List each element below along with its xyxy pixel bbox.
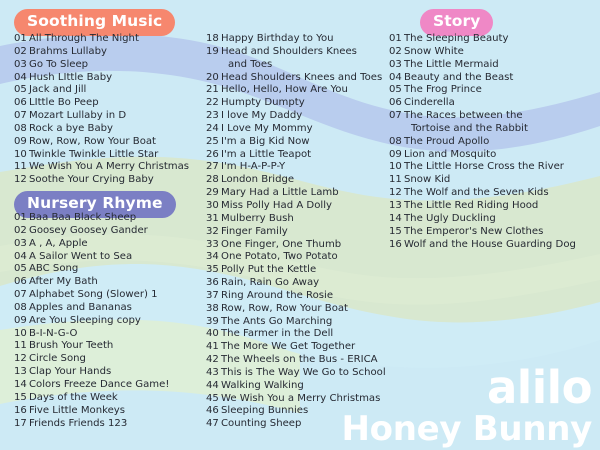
- track-title: The Little Horse Cross the River: [404, 161, 600, 174]
- track-list-item: 04A Sailor Went to Sea: [14, 251, 214, 264]
- track-title: Days of the Week: [29, 392, 214, 405]
- track-number: 38: [206, 303, 221, 316]
- track-list-item: 20Head Shoulders Knees and Toes: [206, 72, 402, 85]
- track-title: Beauty and the Beast: [404, 72, 600, 85]
- track-title: and Toes: [221, 59, 402, 72]
- track-number: 42: [206, 354, 221, 367]
- track-title: Hush LIttle Baby: [29, 72, 214, 85]
- track-number: 10: [389, 161, 404, 174]
- track-list-item: 09Are You Sleeping copy: [14, 315, 214, 328]
- track-number: 01: [14, 212, 29, 225]
- track-number: 06: [14, 276, 29, 289]
- track-number: 16: [389, 239, 404, 252]
- track-title: A Sailor Went to Sea: [29, 251, 214, 264]
- track-list-item: 34One Potato, Two Potato: [206, 251, 402, 264]
- track-title: The Ants Go Marching: [221, 316, 402, 329]
- track-list-item: 01Baa Baa Black Sheep: [14, 212, 214, 225]
- track-number: 04: [14, 251, 29, 264]
- track-number: 06: [389, 97, 404, 110]
- track-title: Rain, Rain Go Away: [221, 277, 402, 290]
- track-number: 01: [14, 33, 29, 46]
- track-number: 19: [206, 46, 221, 59]
- track-title: Brush Your Teeth: [29, 340, 214, 353]
- track-title: One Potato, Two Potato: [221, 251, 402, 264]
- track-number: 02: [14, 225, 29, 238]
- track-title: Cinderella: [404, 97, 600, 110]
- track-title: Head and Shoulders Knees: [221, 46, 402, 59]
- track-list-item: 12Circle Song: [14, 353, 214, 366]
- track-list-item: 02Goosey Goosey Gander: [14, 225, 214, 238]
- track-title: ABC Song: [29, 263, 214, 276]
- track-number: 08: [14, 123, 29, 136]
- track-list-item: 02Brahms Lullaby: [14, 46, 214, 59]
- track-list-item: 11Snow Kid: [389, 174, 600, 187]
- track-number: 07: [389, 110, 404, 123]
- track-list-item: 16Wolf and the House Guarding Dog: [389, 239, 600, 252]
- track-title: London Bridge: [221, 174, 402, 187]
- track-number: 12: [14, 353, 29, 366]
- track-number: 32: [206, 226, 221, 239]
- track-number: 12: [389, 187, 404, 200]
- track-number: 12: [14, 174, 29, 187]
- track-list-item: 27I'm H-A-P-P-Y: [206, 161, 402, 174]
- track-list-item: 09Lion and Mosquito: [389, 149, 600, 162]
- track-list-item: 12Soothe Your Crying Baby: [14, 174, 214, 187]
- story-track-list: 01The Sleeping Beauty02Snow White03The L…: [389, 33, 600, 251]
- track-number: 11: [389, 174, 404, 187]
- track-number: 17: [14, 418, 29, 431]
- track-title: Clap Your Hands: [29, 366, 214, 379]
- track-title: We Wish You A Merry Christmas: [29, 161, 214, 174]
- track-number: 10: [14, 328, 29, 341]
- track-title: The Frog Prince: [404, 84, 600, 97]
- track-number: 31: [206, 213, 221, 226]
- track-list-item: 06Cinderella: [389, 97, 600, 110]
- track-number: 27: [206, 161, 221, 174]
- track-list-item: 14Colors Freeze Dance Game!: [14, 379, 214, 392]
- track-title: Five Little Monkeys: [29, 405, 214, 418]
- track-number: 09: [14, 136, 29, 149]
- track-title: The Proud Apollo: [404, 136, 600, 149]
- track-list-item: 04Hush LIttle Baby: [14, 72, 214, 85]
- track-list-item: 13The Little Red Riding Hood: [389, 200, 600, 213]
- track-number: 05: [389, 84, 404, 97]
- track-number: 15: [14, 392, 29, 405]
- track-list-item: 40The Farmer in the Dell: [206, 328, 402, 341]
- track-number: 36: [206, 277, 221, 290]
- track-list-item: 41The More We Get Together: [206, 341, 402, 354]
- track-list-item: 02Snow White: [389, 46, 600, 59]
- track-title: Finger Family: [221, 226, 402, 239]
- track-title: Apples and Bananas: [29, 302, 214, 315]
- track-number: 24: [206, 123, 221, 136]
- track-list-item: 11Brush Your Teeth: [14, 340, 214, 353]
- track-number: 29: [206, 187, 221, 200]
- track-title: The Wolf and the Seven Kids: [404, 187, 600, 200]
- track-number: 08: [14, 302, 29, 315]
- track-list-item: and Toes: [206, 59, 402, 72]
- track-number: 20: [206, 72, 221, 85]
- track-number: 04: [389, 72, 404, 85]
- track-title: Mulberry Bush: [221, 213, 402, 226]
- track-title: Soothe Your Crying Baby: [29, 174, 214, 187]
- track-number: 09: [389, 149, 404, 162]
- track-list-item: 03A , A, Apple: [14, 238, 214, 251]
- track-title: Twinkle Twinkle Little Star: [29, 149, 214, 162]
- track-title: Lion and Mosquito: [404, 149, 600, 162]
- track-number: 28: [206, 174, 221, 187]
- track-number: 16: [14, 405, 29, 418]
- track-title: B-I-N-G-O: [29, 328, 214, 341]
- track-number: 02: [389, 46, 404, 59]
- track-list-poster: Soothing Music 01All Through The Night02…: [0, 0, 600, 450]
- track-title: Row, Row, Row Your Boat: [29, 136, 214, 149]
- track-number: 05: [14, 263, 29, 276]
- track-list-item: 12The Wolf and the Seven Kids: [389, 187, 600, 200]
- track-number: 37: [206, 290, 221, 303]
- track-title: I'm a Big Kid Now: [221, 136, 402, 149]
- track-number: 07: [14, 289, 29, 302]
- track-number: 46: [206, 405, 221, 418]
- track-list-item: 14The Ugly Duckling: [389, 213, 600, 226]
- track-title: All Through The Night: [29, 33, 214, 46]
- track-title: Wolf and the House Guarding Dog: [404, 239, 600, 252]
- track-number: 43: [206, 367, 221, 380]
- track-list-item: 18Happy Birthday to You: [206, 33, 402, 46]
- track-list-item: 08Rock a bye Baby: [14, 123, 214, 136]
- track-list-item: 10Twinkle Twinkle Little Star: [14, 149, 214, 162]
- story-header: Story: [420, 9, 493, 36]
- track-title: Head Shoulders Knees and Toes: [221, 72, 402, 85]
- brand-product-name: Honey Bunny: [342, 412, 592, 446]
- track-title: Row, Row, Row Your Boat: [221, 303, 402, 316]
- track-title: The Farmer in the Dell: [221, 328, 402, 341]
- track-number: 14: [389, 213, 404, 226]
- track-number: 35: [206, 264, 221, 277]
- track-number: 13: [389, 200, 404, 213]
- track-title: Mary Had a Little Lamb: [221, 187, 402, 200]
- track-list-item: 03The Little Mermaid: [389, 59, 600, 72]
- track-number: 05: [14, 84, 29, 97]
- track-title: Humpty Dumpty: [221, 97, 402, 110]
- track-list-item: 32Finger Family: [206, 226, 402, 239]
- track-title: Jack and Jill: [29, 84, 214, 97]
- track-title: Alphabet Song (Slower) 1: [29, 289, 214, 302]
- track-list-item: 13Clap Your Hands: [14, 366, 214, 379]
- track-number: 02: [14, 46, 29, 59]
- track-title: Polly Put the Kettle: [221, 264, 402, 277]
- track-list-item: 37Ring Around the Rosie: [206, 290, 402, 303]
- brand-lockup: alilo Honey Bunny: [342, 365, 592, 446]
- track-number: 03: [389, 59, 404, 72]
- track-title: Brahms Lullaby: [29, 46, 214, 59]
- track-title: The Emperor's New Clothes: [404, 226, 600, 239]
- track-number: 34: [206, 251, 221, 264]
- track-list-item: Tortoise and the Rabbit: [389, 123, 600, 136]
- track-title: The Little Red Riding Hood: [404, 200, 600, 213]
- track-number: 03: [14, 59, 29, 72]
- track-title: One Finger, One Thumb: [221, 239, 402, 252]
- track-list-item: 11We Wish You A Merry Christmas: [14, 161, 214, 174]
- track-title: I love My Daddy: [221, 110, 402, 123]
- track-list-item: 35Polly Put the Kettle: [206, 264, 402, 277]
- track-list-item: 33One Finger, One Thumb: [206, 239, 402, 252]
- track-number: 01: [389, 33, 404, 46]
- track-number: 45: [206, 393, 221, 406]
- track-number: 09: [14, 315, 29, 328]
- track-title: Are You Sleeping copy: [29, 315, 214, 328]
- track-list-item: 21Hello, Hello, How Are You: [206, 84, 402, 97]
- track-list-item: 28London Bridge: [206, 174, 402, 187]
- track-number: 47: [206, 418, 221, 431]
- track-number: 41: [206, 341, 221, 354]
- track-number: 23: [206, 110, 221, 123]
- track-number: 30: [206, 200, 221, 213]
- brand-name: alilo: [342, 365, 592, 410]
- track-number: 15: [389, 226, 404, 239]
- track-number: 04: [14, 72, 29, 85]
- badge-story: Story: [420, 9, 493, 36]
- track-title: Happy Birthday to You: [221, 33, 402, 46]
- track-list-item: 31Mulberry Bush: [206, 213, 402, 226]
- track-list-item: 29Mary Had a Little Lamb: [206, 187, 402, 200]
- track-title: The More We Get Together: [221, 341, 402, 354]
- track-list-item: 25I'm a Big Kid Now: [206, 136, 402, 149]
- track-title: Baa Baa Black Sheep: [29, 212, 214, 225]
- track-list-item: 03Go To Sleep: [14, 59, 214, 72]
- track-title: Ring Around the Rosie: [221, 290, 402, 303]
- track-title: LIttle Bo Peep: [29, 97, 214, 110]
- track-title: I Love My Mommy: [221, 123, 402, 136]
- track-number: 11: [14, 340, 29, 353]
- track-number: 11: [14, 161, 29, 174]
- track-title: The Sleeping Beauty: [404, 33, 600, 46]
- track-list-item: 15Days of the Week: [14, 392, 214, 405]
- track-list-item: 24I Love My Mommy: [206, 123, 402, 136]
- track-title: Miss Polly Had A Dolly: [221, 200, 402, 213]
- track-list-item: 01The Sleeping Beauty: [389, 33, 600, 46]
- track-title: The Races between the: [404, 110, 600, 123]
- track-list-item: 07The Races between the: [389, 110, 600, 123]
- nursery-rhyme-track-list-column-1: 01Baa Baa Black Sheep02Goosey Goosey Gan…: [14, 212, 214, 430]
- track-list-item: 05The Frog Prince: [389, 84, 600, 97]
- track-list-item: 22Humpty Dumpty: [206, 97, 402, 110]
- track-title: Snow Kid: [404, 174, 600, 187]
- track-title: Tortoise and the Rabbit: [404, 123, 600, 136]
- track-number: 06: [14, 97, 29, 110]
- track-number: 40: [206, 328, 221, 341]
- track-list-item: 38Row, Row, Row Your Boat: [206, 303, 402, 316]
- track-number: 18: [206, 33, 221, 46]
- track-list-item: 10The Little Horse Cross the River: [389, 161, 600, 174]
- track-title: I'm H-A-P-P-Y: [221, 161, 402, 174]
- track-title: Hello, Hello, How Are You: [221, 84, 402, 97]
- track-list-item: 10B-I-N-G-O: [14, 328, 214, 341]
- track-list-item: 06After My Bath: [14, 276, 214, 289]
- track-number: 07: [14, 110, 29, 123]
- track-list-item: 06LIttle Bo Peep: [14, 97, 214, 110]
- track-list-item: 17Friends Friends 123: [14, 418, 214, 431]
- track-number: 21: [206, 84, 221, 97]
- track-list-item: 07Alphabet Song (Slower) 1: [14, 289, 214, 302]
- track-list-item: 19Head and Shoulders Knees: [206, 46, 402, 59]
- track-list-item: 08Apples and Bananas: [14, 302, 214, 315]
- track-title: Rock a bye Baby: [29, 123, 214, 136]
- track-number: 33: [206, 239, 221, 252]
- track-number: 22: [206, 97, 221, 110]
- soothing-music-header: Soothing Music: [14, 9, 175, 36]
- track-list-item: 08The Proud Apollo: [389, 136, 600, 149]
- track-title: Circle Song: [29, 353, 214, 366]
- track-title: Colors Freeze Dance Game!: [29, 379, 214, 392]
- track-list-item: 15The Emperor's New Clothes: [389, 226, 600, 239]
- track-number: 44: [206, 380, 221, 393]
- track-list-item: 07Mozart Lullaby in D: [14, 110, 214, 123]
- track-list-item: 26I'm a Little Teapot: [206, 149, 402, 162]
- badge-soothing-music: Soothing Music: [14, 9, 175, 36]
- track-list-item: 23I love My Daddy: [206, 110, 402, 123]
- track-number: 13: [14, 366, 29, 379]
- track-title: A , A, Apple: [29, 238, 214, 251]
- track-title: Mozart Lullaby in D: [29, 110, 214, 123]
- track-list-item: 05ABC Song: [14, 263, 214, 276]
- track-title: After My Bath: [29, 276, 214, 289]
- track-number: 08: [389, 136, 404, 149]
- track-list-item: 16Five Little Monkeys: [14, 405, 214, 418]
- track-number: 14: [14, 379, 29, 392]
- track-title: Go To Sleep: [29, 59, 214, 72]
- track-title: The Ugly Duckling: [404, 213, 600, 226]
- track-number: 26: [206, 149, 221, 162]
- soothing-music-track-list: 01All Through The Night02Brahms Lullaby0…: [14, 33, 214, 187]
- track-list-item: 09Row, Row, Row Your Boat: [14, 136, 214, 149]
- track-list-item: 30Miss Polly Had A Dolly: [206, 200, 402, 213]
- track-list-item: 39The Ants Go Marching: [206, 316, 402, 329]
- track-list-item: 01All Through The Night: [14, 33, 214, 46]
- track-number: 25: [206, 136, 221, 149]
- track-list-item: 36Rain, Rain Go Away: [206, 277, 402, 290]
- track-title: The Little Mermaid: [404, 59, 600, 72]
- track-list-item: 04Beauty and the Beast: [389, 72, 600, 85]
- track-title: Goosey Goosey Gander: [29, 225, 214, 238]
- track-title: Snow White: [404, 46, 600, 59]
- track-list-item: 05Jack and Jill: [14, 84, 214, 97]
- track-number: 10: [14, 149, 29, 162]
- track-title: Friends Friends 123: [29, 418, 214, 431]
- track-title: I'm a Little Teapot: [221, 149, 402, 162]
- track-number: 03: [14, 238, 29, 251]
- track-number: 39: [206, 316, 221, 329]
